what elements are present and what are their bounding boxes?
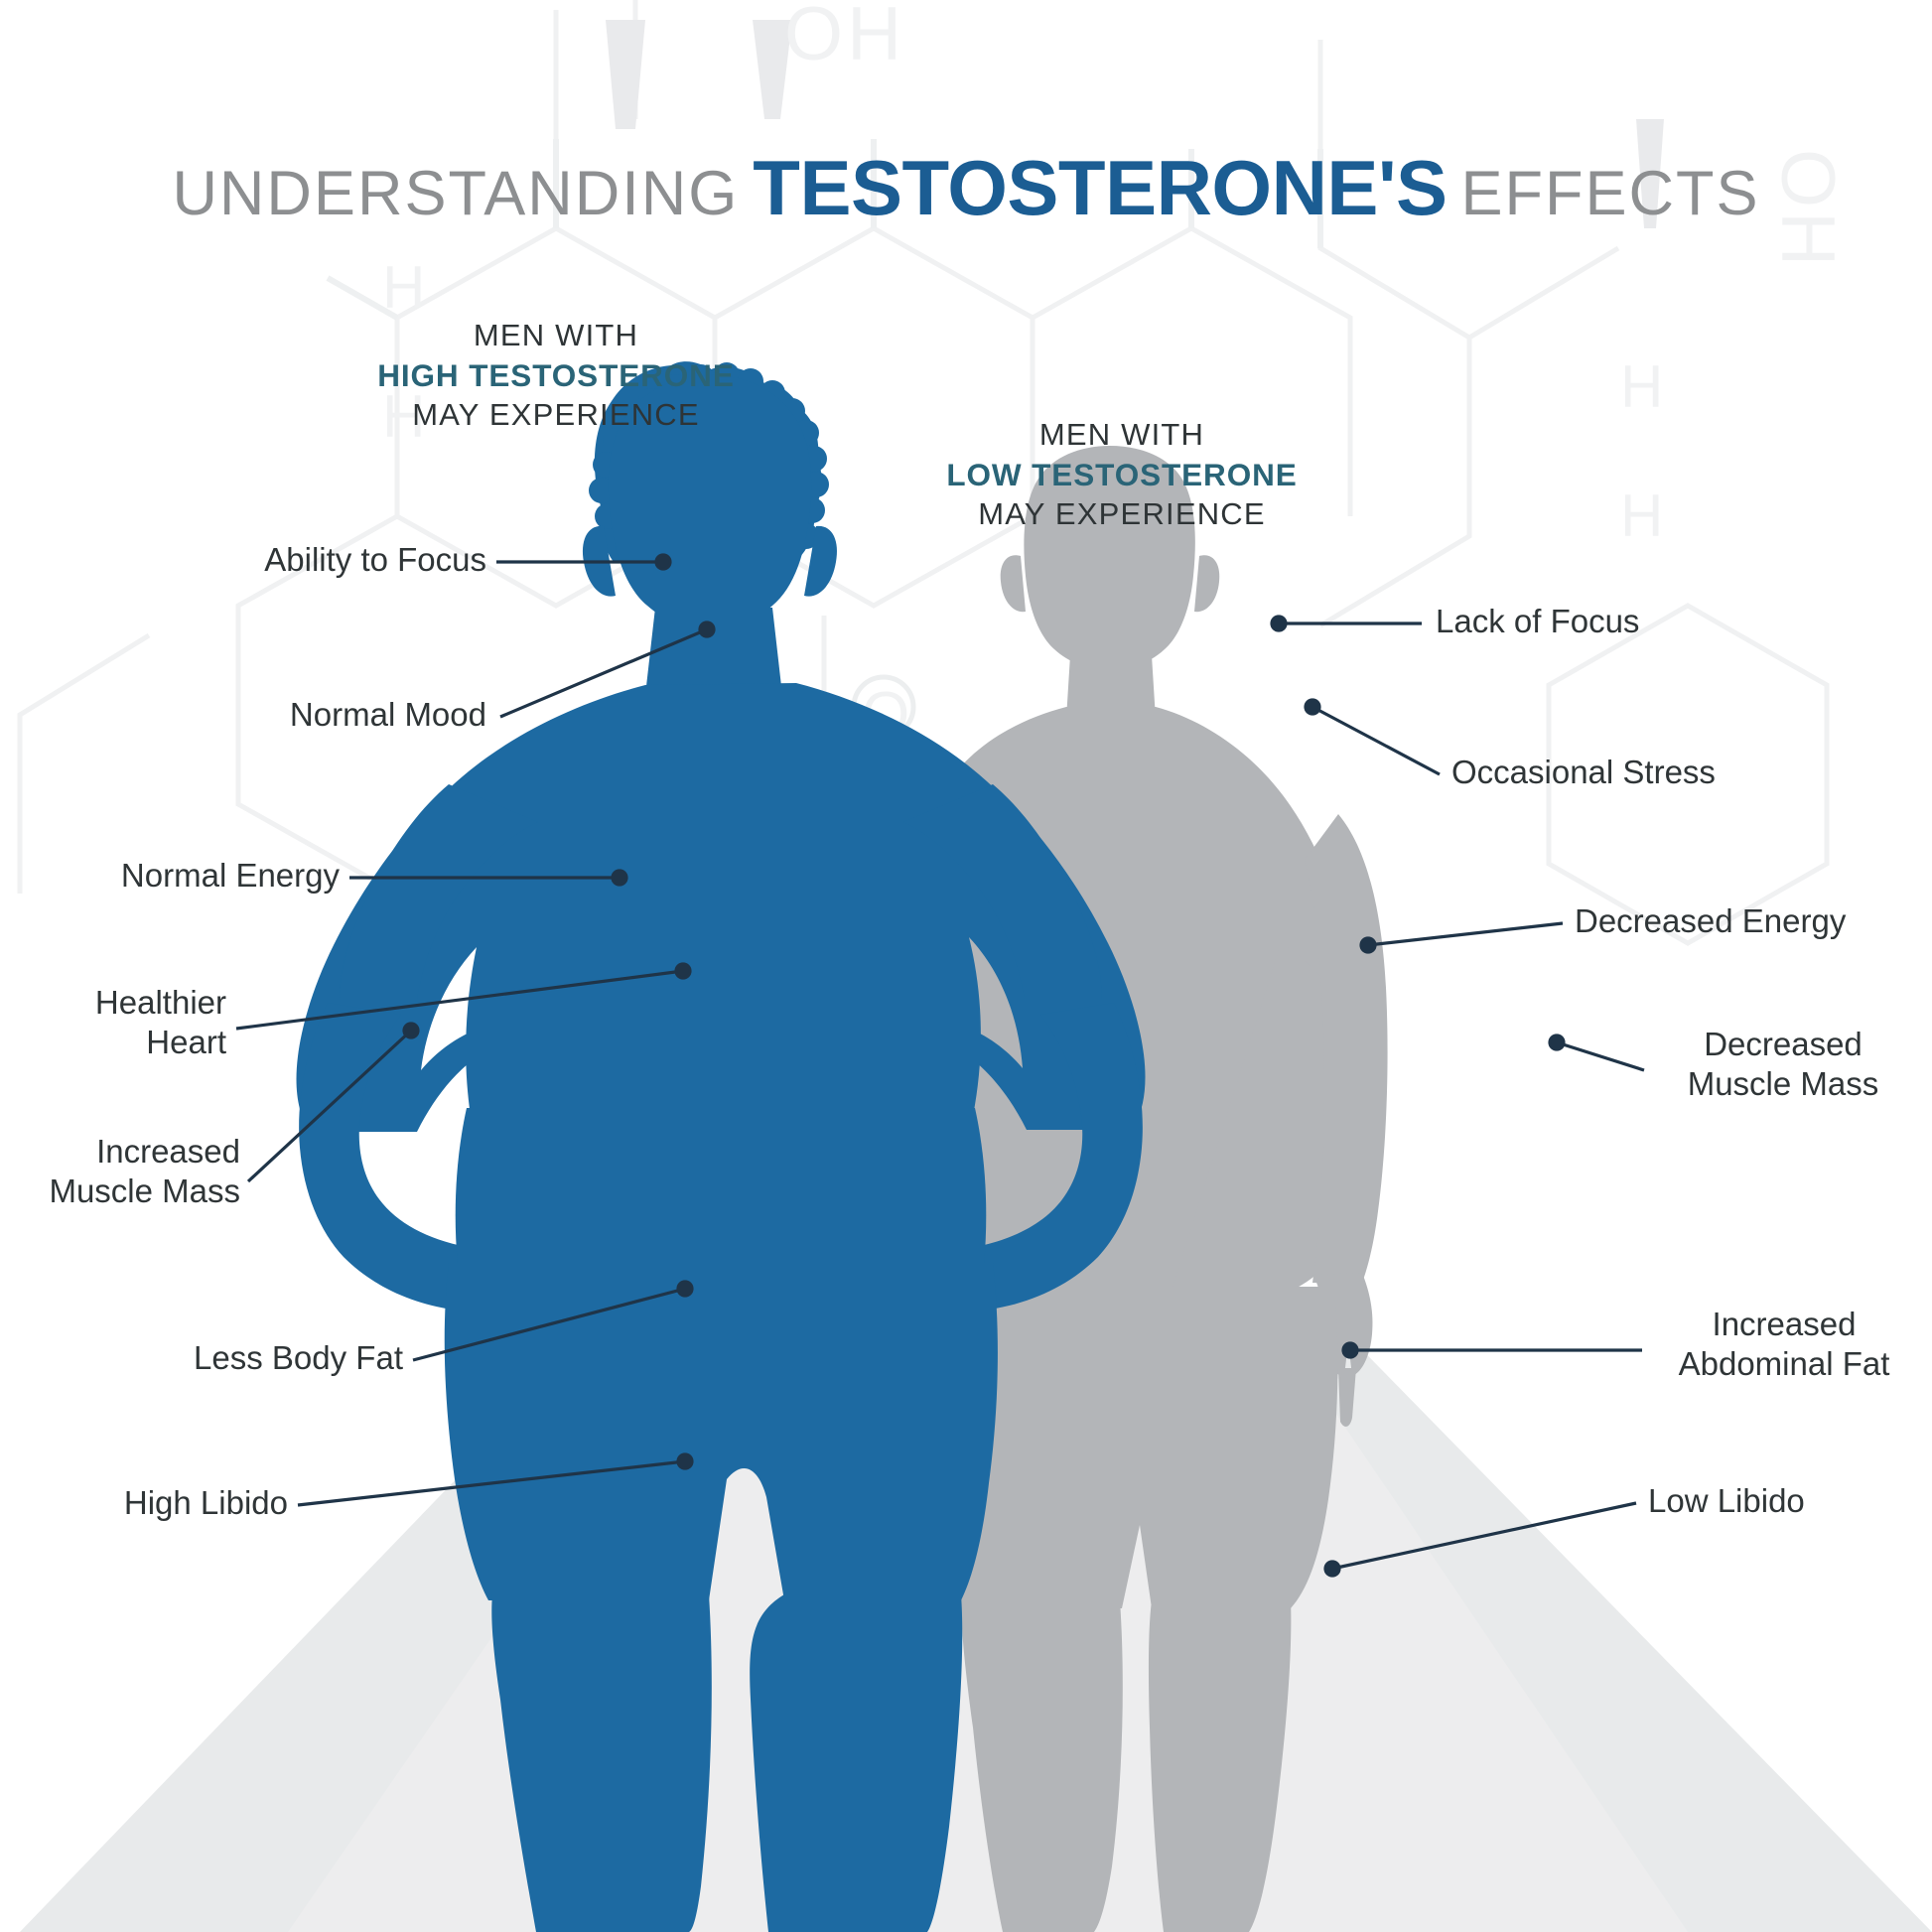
label-decreased-energy: Decreased Energy bbox=[1575, 901, 1846, 941]
column-header-high-testosterone: MEN WITH HIGH TESTOSTERONE MAY EXPERIENC… bbox=[333, 316, 779, 435]
label-decreased-muscle-mass: Decreased Muscle Mass bbox=[1654, 1025, 1912, 1105]
label-ability-to-focus: Ability to Focus bbox=[60, 540, 486, 580]
label-high-libido: High Libido bbox=[60, 1483, 288, 1523]
label-low-libido: Low Libido bbox=[1648, 1481, 1805, 1521]
label-less-body-fat: Less Body Fat bbox=[60, 1338, 403, 1378]
label-decreased-muscle-mass-line2: Muscle Mass bbox=[1654, 1064, 1912, 1104]
title-lead: UNDERSTANDING bbox=[172, 159, 739, 228]
label-occasional-stress: Occasional Stress bbox=[1451, 753, 1716, 792]
column-header-low-testosterone: MEN WITH LOW TESTOSTERONE MAY EXPERIENCE bbox=[898, 415, 1345, 534]
label-increased-muscle-mass-line1: Increased bbox=[20, 1132, 240, 1172]
label-normal-mood: Normal Mood bbox=[60, 695, 486, 735]
infographic-canvas: OH OH H H H H O bbox=[0, 0, 1932, 1932]
title-trail: EFFECTS bbox=[1461, 159, 1760, 228]
label-increased-abdominal-fat-line2: Abdominal Fat bbox=[1652, 1344, 1916, 1384]
label-healthier-heart-line2: Heart bbox=[30, 1023, 226, 1062]
low-header-line1: MEN WITH bbox=[1039, 417, 1204, 452]
label-increased-muscle-mass-line2: Muscle Mass bbox=[20, 1172, 240, 1211]
label-healthier-heart-line1: Healthier bbox=[30, 983, 226, 1023]
text-layer: UNDERSTANDINGTESTOSTERONE'SEFFECTS MEN W… bbox=[0, 0, 1932, 1932]
label-healthier-heart: Healthier Heart bbox=[30, 983, 226, 1063]
high-header-line1: MEN WITH bbox=[474, 318, 638, 352]
high-header-line3: MAY EXPERIENCE bbox=[412, 397, 700, 432]
label-increased-abdominal-fat-line1: Increased bbox=[1652, 1305, 1916, 1344]
title-emphasis: TESTOSTERONE'S bbox=[753, 144, 1447, 231]
high-header-accent: HIGH TESTOSTERONE bbox=[333, 355, 779, 395]
low-header-line3: MAY EXPERIENCE bbox=[978, 496, 1266, 531]
label-increased-abdominal-fat: Increased Abdominal Fat bbox=[1652, 1305, 1916, 1385]
label-lack-of-focus: Lack of Focus bbox=[1436, 602, 1639, 641]
page-title: UNDERSTANDINGTESTOSTERONE'SEFFECTS bbox=[0, 149, 1932, 226]
label-normal-energy: Normal Energy bbox=[60, 856, 340, 896]
label-decreased-muscle-mass-line1: Decreased bbox=[1654, 1025, 1912, 1064]
low-header-accent: LOW TESTOSTERONE bbox=[898, 455, 1345, 494]
label-increased-muscle-mass: Increased Muscle Mass bbox=[20, 1132, 240, 1212]
